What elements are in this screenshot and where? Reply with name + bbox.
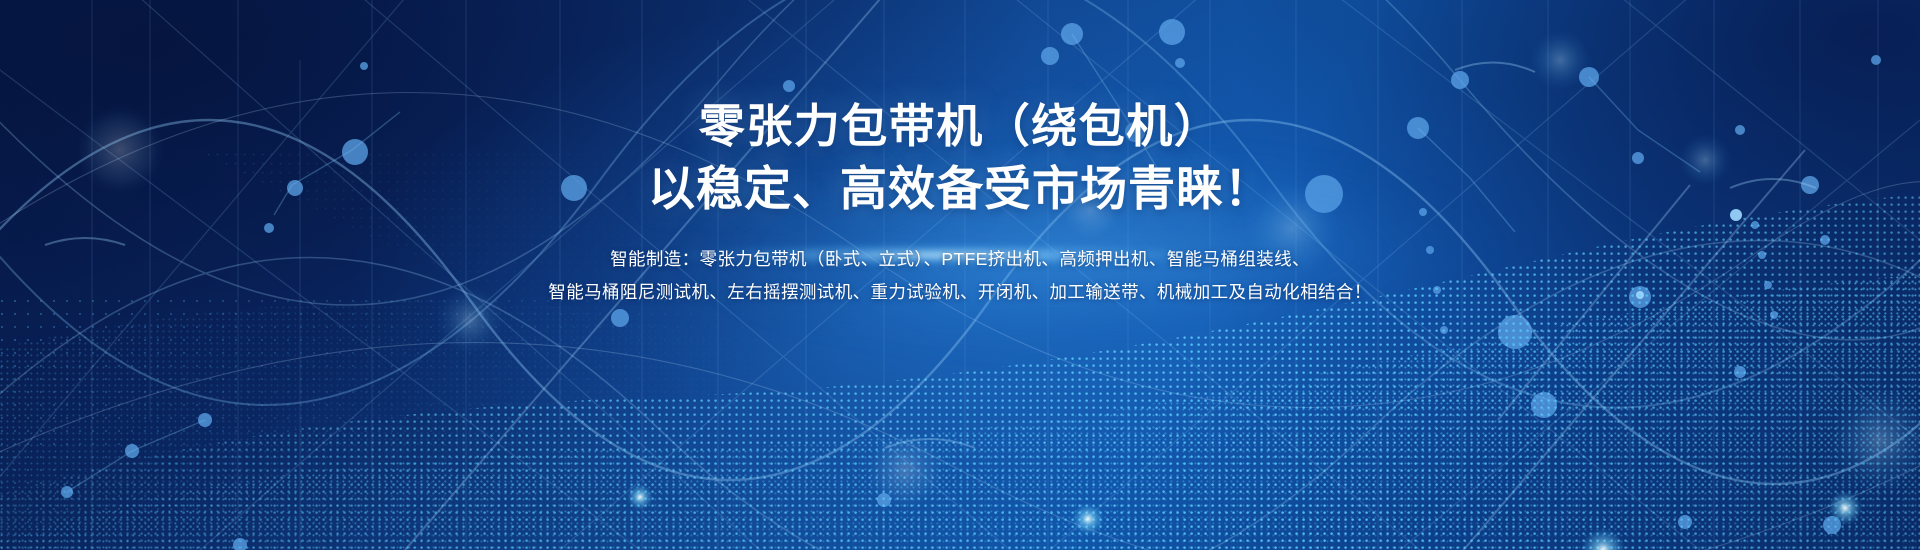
hero-banner: 零张力包带机（绕包机） 以稳定、高效备受市场青睐！ 智能制造：零张力包带机（卧式… <box>0 0 1920 550</box>
hero-subtitle-line-1: 智能制造：零张力包带机（卧式、立式）、PTFE挤出机、高频押出机、智能马桶组装线… <box>0 243 1920 276</box>
hero-subtitle-line-2: 智能马桶阻尼测试机、左右摇摆测试机、重力试验机、开闭机、加工输送带、机械加工及自… <box>0 276 1920 309</box>
hero-title-line-1: 零张力包带机（绕包机） <box>0 96 1920 158</box>
hero-subtitle: 智能制造：零张力包带机（卧式、立式）、PTFE挤出机、高频押出机、智能马桶组装线… <box>0 243 1920 310</box>
hero-content: 零张力包带机（绕包机） 以稳定、高效备受市场青睐！ 智能制造：零张力包带机（卧式… <box>0 96 1920 309</box>
hero-title-line-2: 以稳定、高效备受市场青睐！ <box>0 158 1920 221</box>
